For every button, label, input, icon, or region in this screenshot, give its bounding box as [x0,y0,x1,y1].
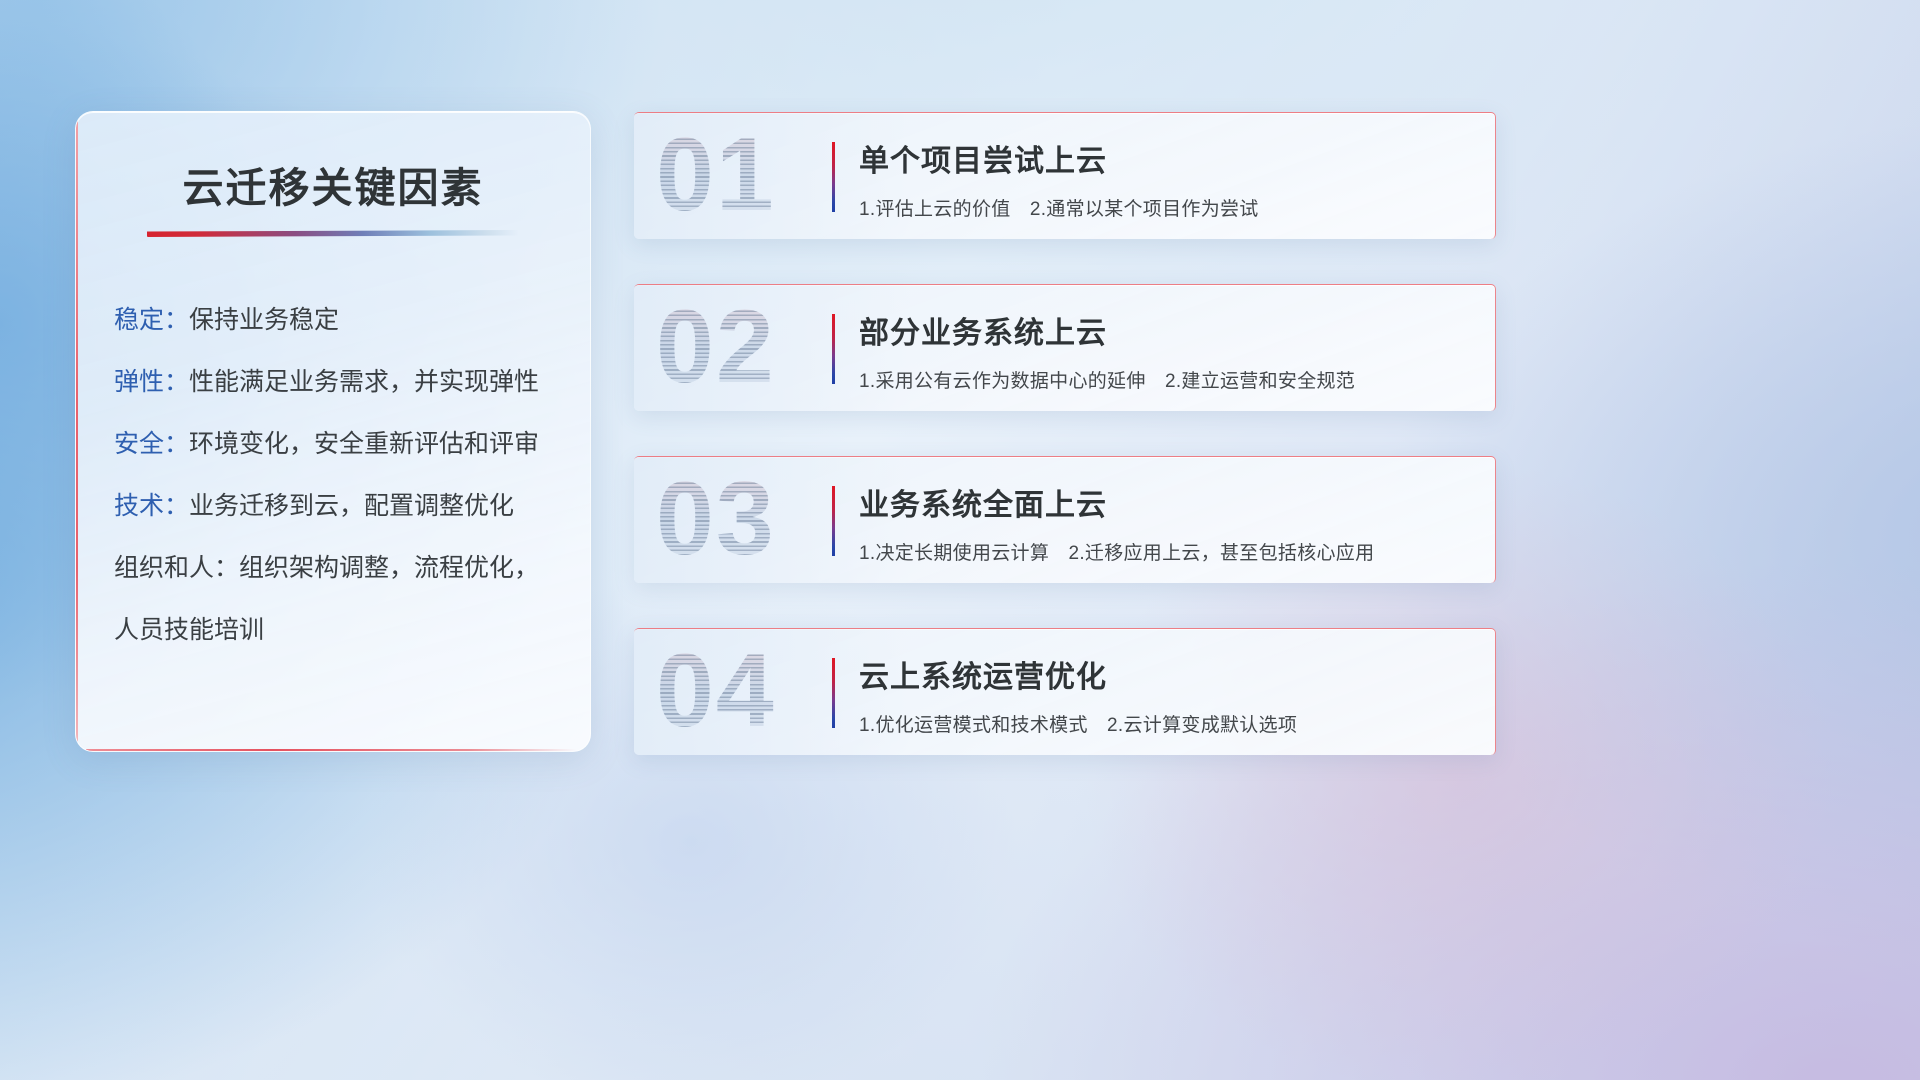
stage-text-block: 业务系统全面上云1.决定长期使用云计算 2.迁移应用上云，甚至包括核心应用 [859,480,1374,565]
key-factor-label: 安全： [114,430,189,458]
title-underline-rule [147,230,519,237]
key-factor-text: 性能满足业务需求，并实现弹性 [189,368,539,396]
stage-text-block: 单个项目尝试上云1.评估上云的价值 2.通常以某个项目作为尝试 [859,136,1259,221]
accent-bar [832,314,835,384]
stage-text-block: 云上系统运营优化1.优化运营模式和技术模式 2.云计算变成默认选项 [859,652,1297,737]
key-factor-item: 人员技能培训 [114,599,590,661]
stage-title: 单个项目尝试上云 [859,136,1259,180]
accent-bar [832,658,835,728]
key-factor-text: 业务迁移到云，配置调整优化 [189,492,514,520]
key-factor-text: 组织架构调整，流程优化， [239,554,539,582]
stage-card[interactable]: 01单个项目尝试上云1.评估上云的价值 2.通常以某个项目作为尝试 [634,112,1496,239]
stage-title: 云上系统运营优化 [859,652,1297,696]
stage-number: 02 [656,284,846,411]
key-factor-label: 组织和人： [114,554,239,582]
stage-description: 1.评估上云的价值 2.通常以某个项目作为尝试 [859,194,1259,221]
stage-number: 04 [656,628,846,755]
stage-card[interactable]: 02部分业务系统上云1.采用公有云作为数据中心的延伸 2.建立运营和安全规范 [634,284,1496,411]
key-factor-text: 环境变化，安全重新评估和评审 [189,430,539,458]
stage-card[interactable]: 04云上系统运营优化1.优化运营模式和技术模式 2.云计算变成默认选项 [634,628,1496,755]
stage-description: 1.决定长期使用云计算 2.迁移应用上云，甚至包括核心应用 [859,538,1374,565]
key-factors-list: 稳定：保持业务稳定弹性：性能满足业务需求，并实现弹性安全：环境变化，安全重新评估… [114,289,590,661]
stage-number: 01 [656,112,846,239]
cloud-migration-stages: 01单个项目尝试上云1.评估上云的价值 2.通常以某个项目作为尝试02部分业务系… [634,112,1496,755]
key-factor-text: 保持业务稳定 [189,306,339,334]
key-factor-label: 稳定： [114,306,189,334]
key-factor-item: 组织和人：组织架构调整，流程优化， [114,537,590,599]
key-factor-item: 弹性：性能满足业务需求，并实现弹性 [114,351,590,413]
accent-bar [832,142,835,212]
accent-bar [832,486,835,556]
stage-text-block: 部分业务系统上云1.采用公有云作为数据中心的延伸 2.建立运营和安全规范 [859,308,1355,393]
key-factor-label: 弹性： [114,368,189,396]
stage-card[interactable]: 03业务系统全面上云1.决定长期使用云计算 2.迁移应用上云，甚至包括核心应用 [634,456,1496,583]
page-title: 云迁移关键因素 [76,154,590,214]
key-factor-text: 人员技能培训 [114,616,264,644]
key-factor-item: 技术：业务迁移到云，配置调整优化 [114,475,590,537]
stage-description: 1.优化运营模式和技术模式 2.云计算变成默认选项 [859,710,1297,737]
stage-title: 部分业务系统上云 [859,308,1355,352]
stage-description: 1.采用公有云作为数据中心的延伸 2.建立运营和安全规范 [859,366,1355,393]
key-factor-item: 稳定：保持业务稳定 [114,289,590,351]
key-factor-item: 安全：环境变化，安全重新评估和评审 [114,413,590,475]
stage-title: 业务系统全面上云 [859,480,1374,524]
key-factor-label: 技术： [114,492,189,520]
stage-number: 03 [656,456,846,583]
key-factors-panel: 云迁移关键因素 稳定：保持业务稳定弹性：性能满足业务需求，并实现弹性安全：环境变… [75,111,591,752]
